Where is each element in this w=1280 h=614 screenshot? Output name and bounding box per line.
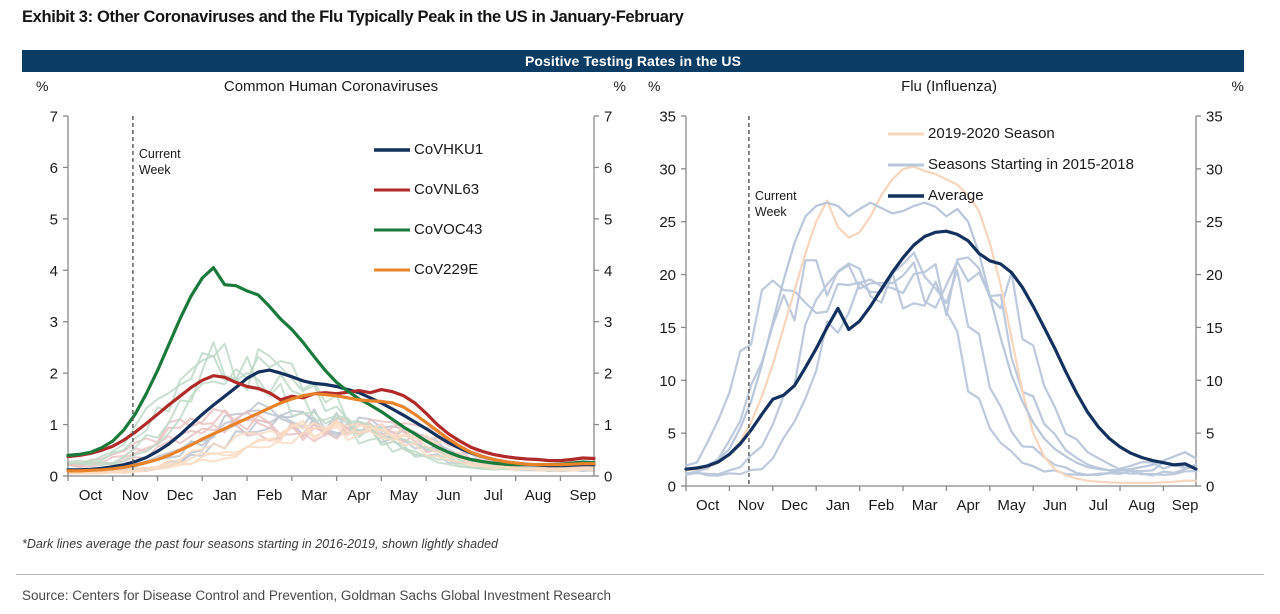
right-chart-svg: 0055101015152020252530303535OctNovDecJan…: [640, 102, 1258, 520]
y-tick-label-right: 0: [1206, 479, 1214, 496]
x-axis-month-label: Jul: [1089, 497, 1108, 514]
y-tick-label: 2: [50, 366, 58, 383]
y-tick-label-right: 7: [604, 109, 612, 126]
banner-title: Positive Testing Rates in the US: [22, 50, 1244, 72]
source-line: Source: Centers for Disease Control and …: [22, 588, 611, 603]
chart-panel-flu: % % Flu (Influenza) 00551010151520202525…: [640, 76, 1258, 556]
y-tick-label: 7: [50, 109, 58, 126]
x-axis-month-label: Sep: [1172, 497, 1199, 514]
y-tick-label: 15: [659, 320, 676, 337]
left-plot-area: 0011223344556677OctNovDecJanFebMarAprMay…: [22, 102, 640, 520]
y-tick-label: 10: [659, 373, 676, 390]
y-tick-label-right: 35: [1206, 109, 1223, 126]
left-panel-title: Common Human Coronaviruses: [22, 78, 640, 95]
chart-panel-coronaviruses: % % Common Human Coronaviruses 001122334…: [22, 76, 640, 556]
current-week-label: Week: [139, 163, 171, 177]
y-tick-label: 0: [668, 479, 676, 496]
x-axis-month-label: Apr: [956, 497, 979, 514]
x-axis-month-label: Jul: [484, 487, 503, 504]
legend-label: CoVNL63: [414, 181, 479, 198]
y-tick-label: 0: [50, 469, 58, 486]
x-axis-month-label: May: [390, 487, 419, 504]
y-tick-label-right: 1: [604, 417, 612, 434]
legend-label: CoVOC43: [414, 221, 482, 238]
current-week-label: Current: [755, 189, 797, 203]
y-tick-label-right: 20: [1206, 267, 1223, 284]
y-tick-label-right: 3: [604, 314, 612, 331]
current-week-label: Week: [755, 205, 787, 219]
x-axis-month-label: Feb: [868, 497, 894, 514]
x-axis-month-label: Sep: [569, 487, 596, 504]
y-tick-label: 4: [50, 263, 58, 280]
legend-label: Seasons Starting in 2015-2018: [928, 156, 1134, 173]
y-tick-label: 30: [659, 161, 676, 178]
x-axis-month-label: May: [997, 497, 1026, 514]
y-tick-label-right: 5: [604, 211, 612, 228]
y-tick-label-right: 2: [604, 366, 612, 383]
x-axis-month-label: Oct: [696, 497, 720, 514]
y-tick-label: 6: [50, 160, 58, 177]
series-line: [686, 231, 1196, 469]
y-tick-label: 25: [659, 214, 676, 231]
divider-rule: [16, 574, 1264, 575]
y-tick-label-right: 6: [604, 160, 612, 177]
x-axis-month-label: Oct: [79, 487, 103, 504]
y-tick-label: 20: [659, 267, 676, 284]
x-axis-month-label: Dec: [167, 487, 194, 504]
y-tick-label: 1: [50, 417, 58, 434]
y-tick-label-right: 25: [1206, 214, 1223, 231]
y-tick-label-right: 10: [1206, 373, 1223, 390]
x-axis-month-label: Nov: [122, 487, 149, 504]
y-tick-label-right: 5: [1206, 426, 1214, 443]
x-axis-month-label: Mar: [301, 487, 327, 504]
legend-label: CoV229E: [414, 261, 478, 278]
legend-label: 2019-2020 Season: [928, 125, 1055, 142]
y-tick-label-right: 4: [604, 263, 612, 280]
legend-label: CoVHKU1: [414, 141, 483, 158]
y-tick-label-right: 15: [1206, 320, 1223, 337]
x-axis-month-label: Dec: [781, 497, 808, 514]
y-tick-label: 35: [659, 109, 676, 126]
current-week-label: Current: [139, 147, 181, 161]
x-axis-month-label: Mar: [912, 497, 938, 514]
x-axis-month-label: Aug: [1128, 497, 1155, 514]
x-axis-month-label: Aug: [525, 487, 552, 504]
x-axis-month-label: Jun: [436, 487, 460, 504]
right-panel-title: Flu (Influenza): [640, 78, 1258, 95]
x-axis-month-label: Nov: [738, 497, 765, 514]
right-plot-area: 0055101015152020252530303535OctNovDecJan…: [640, 102, 1258, 520]
y-tick-label: 3: [50, 314, 58, 331]
legend-label: Average: [928, 187, 984, 204]
x-axis-month-label: Jun: [1043, 497, 1067, 514]
x-axis-month-label: Jan: [826, 497, 850, 514]
left-chart-svg: 0011223344556677OctNovDecJanFebMarAprMay…: [22, 102, 640, 520]
y-tick-label: 5: [668, 426, 676, 443]
banner-label: Positive Testing Rates in the US: [525, 53, 741, 69]
y-tick-label-right: 0: [604, 469, 612, 486]
x-axis-month-label: Jan: [213, 487, 237, 504]
x-axis-month-label: Apr: [347, 487, 370, 504]
series-line: [686, 203, 1196, 470]
footnote: *Dark lines average the past four season…: [22, 537, 498, 551]
y-tick-label: 5: [50, 211, 58, 228]
exhibit-title: Exhibit 3: Other Coronaviruses and the F…: [22, 8, 684, 27]
y-tick-label-right: 30: [1206, 161, 1223, 178]
x-axis-month-label: Feb: [257, 487, 283, 504]
